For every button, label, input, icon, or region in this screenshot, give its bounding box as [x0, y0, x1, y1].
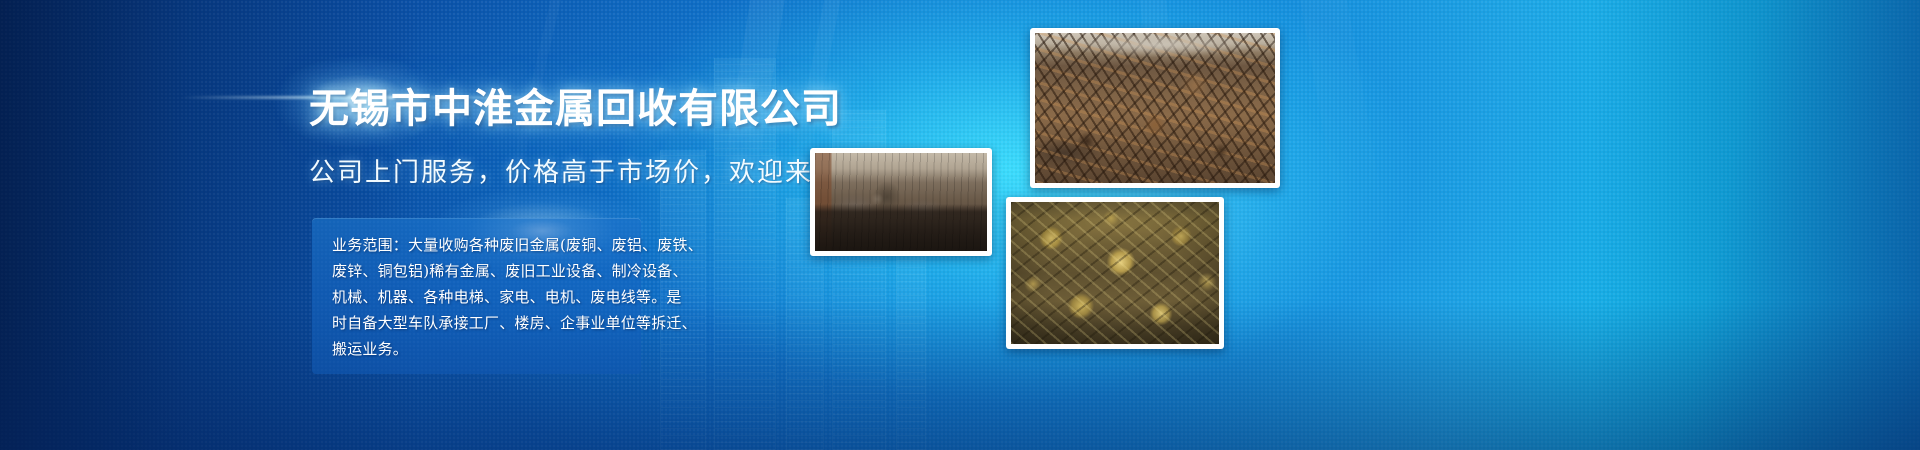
- brass-copper-image: [1011, 202, 1219, 344]
- promo-banner: 无锡市中淮金属回收有限公司 公司上门服务，价格高于市场价，欢迎来电咨询 业务范围…: [0, 0, 1920, 450]
- company-title: 无锡市中淮金属回收有限公司: [309, 76, 842, 134]
- photo-used-machinery: [810, 148, 992, 256]
- scope-line: 业务范围：大量收购各种废旧金属(废铜、废铝、废铁、: [332, 232, 623, 258]
- photo-frame: [815, 153, 987, 251]
- company-subtitle: 公司上门服务，价格高于市场价，欢迎来电咨询: [309, 152, 897, 189]
- scope-line: 搬运业务。: [332, 336, 623, 362]
- photo-frame: [1011, 202, 1219, 344]
- photo-frame: [1035, 33, 1275, 183]
- business-scope-box: 业务范围：大量收购各种废旧金属(废铜、废铝、废铁、 废锌、铜包铝)稀有金属、废旧…: [312, 218, 641, 374]
- photo-scrap-steel-pile: [1030, 28, 1280, 188]
- photo-brass-copper-scrap: [1006, 197, 1224, 349]
- scrap-steel-image: [1035, 33, 1275, 183]
- scope-line: 机械、机器、各种电梯、家电、电机、废电线等。是: [332, 284, 623, 310]
- scope-line: 时自备大型车队承接工厂、楼房、企事业单位等拆迁、: [332, 310, 623, 336]
- scope-line: 废锌、铜包铝)稀有金属、废旧工业设备、制冷设备、: [332, 258, 623, 284]
- used-machinery-image: [815, 153, 987, 251]
